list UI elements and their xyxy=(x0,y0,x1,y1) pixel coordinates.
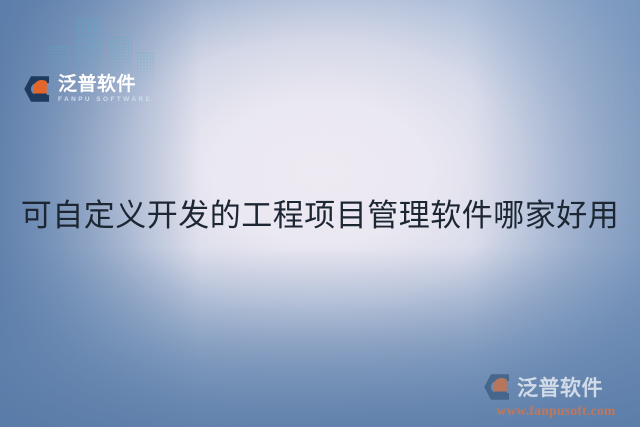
brand-name-cn: 泛普软件 xyxy=(58,75,152,94)
brand-watermark-bottom-right: 泛普软件 www.fanpusoft.com xyxy=(482,372,630,419)
brand-wordmark: 泛普软件 FANPU SOFTWARE xyxy=(58,75,152,104)
promo-banner: 泛普软件 FANPU SOFTWARE 可自定义开发的工程项目管理软件哪家好用 … xyxy=(0,0,640,427)
watermark-url: www.fanpusoft.com xyxy=(482,403,630,419)
watermark-name-cn: 泛普软件 xyxy=(517,372,603,402)
fanpu-hexagon-logo-icon xyxy=(482,372,512,402)
brand-name-en: FANPU SOFTWARE xyxy=(58,97,152,104)
watermark-row: 泛普软件 xyxy=(482,372,630,402)
brand-lockup-top-left: 泛普软件 FANPU SOFTWARE xyxy=(22,74,152,104)
headline-text: 可自定义开发的工程项目管理软件哪家好用 xyxy=(0,198,640,234)
fanpu-hexagon-logo-icon xyxy=(22,74,52,104)
